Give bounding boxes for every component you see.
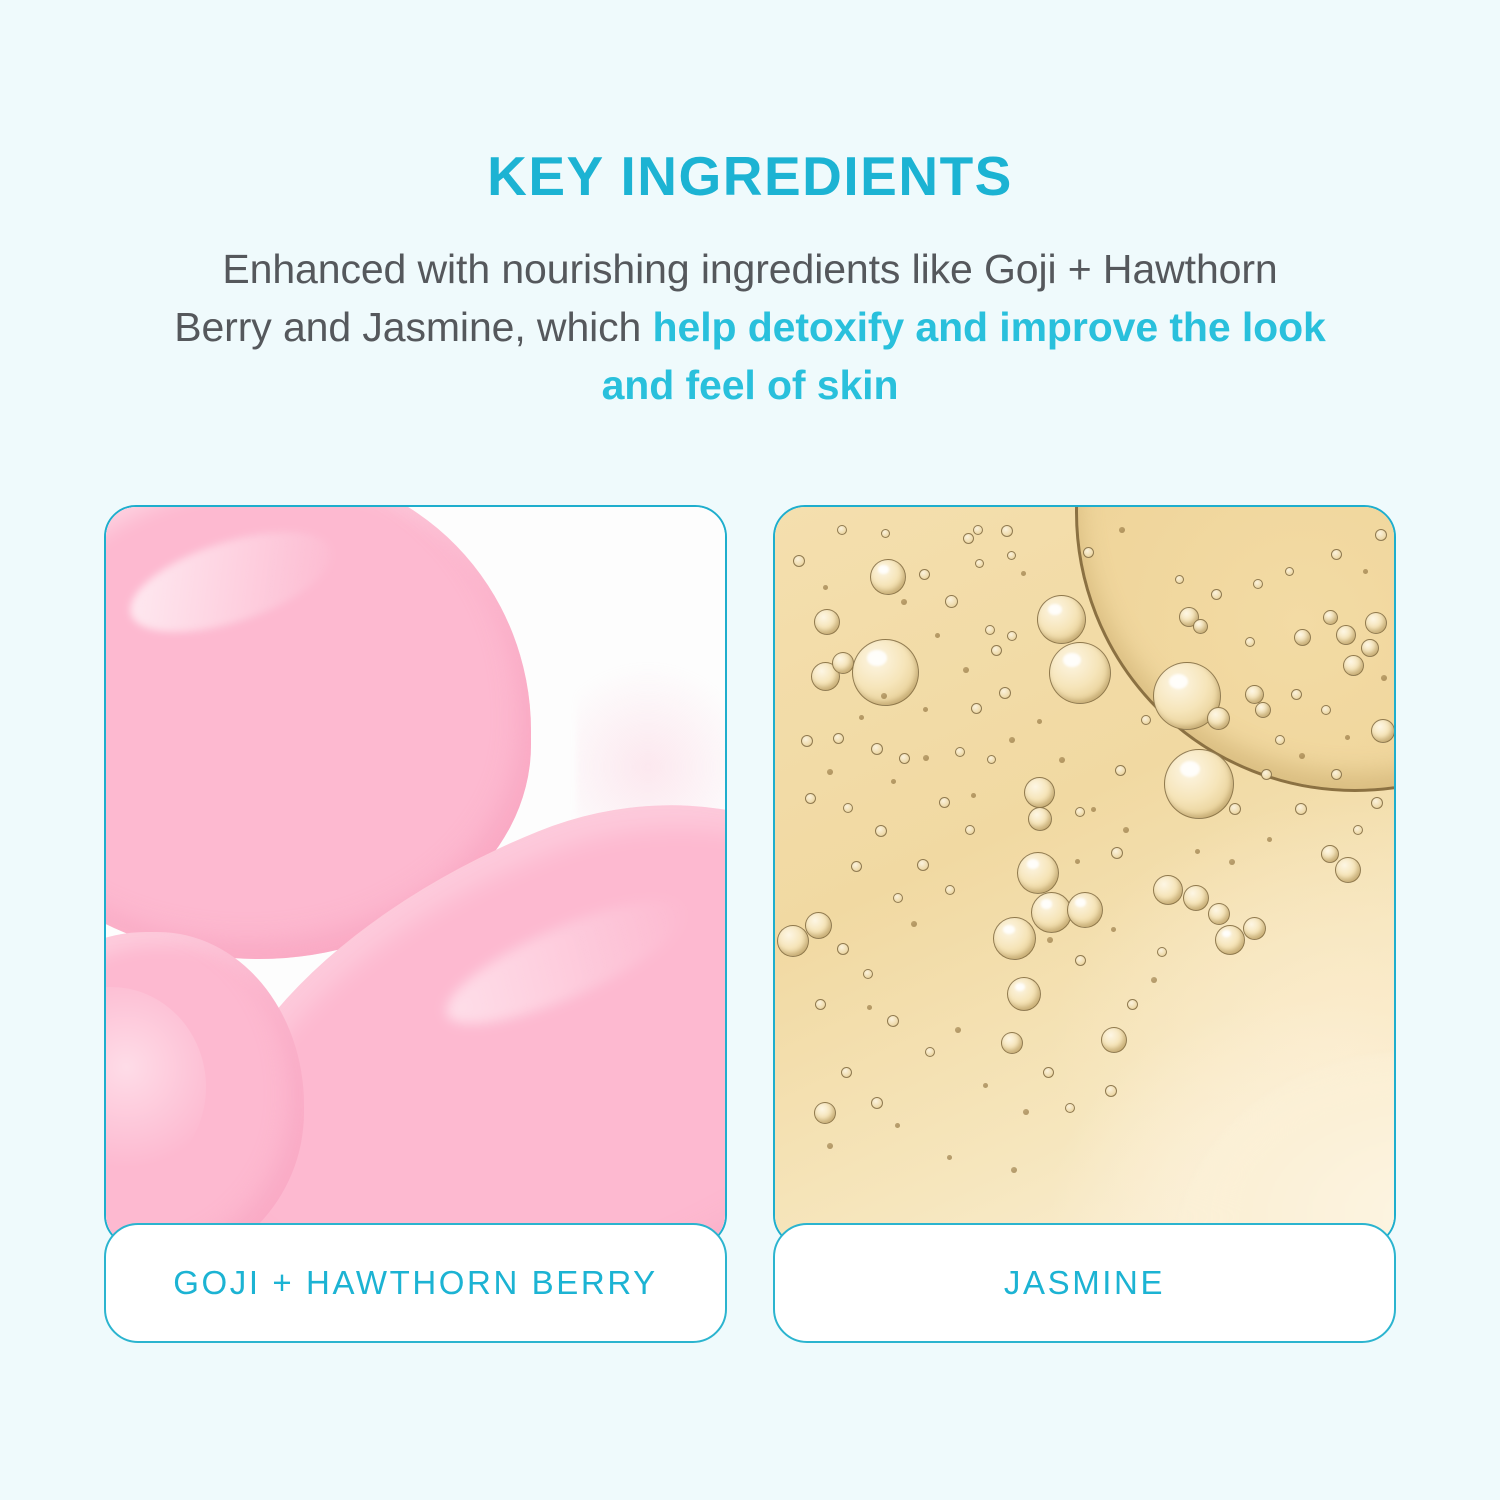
oil-bubble bbox=[1323, 610, 1338, 625]
oil-bubble-micro bbox=[891, 779, 896, 784]
oil-bubble bbox=[1007, 977, 1041, 1011]
oil-bubble-tiny bbox=[1043, 1067, 1054, 1078]
oil-bubble-tiny bbox=[945, 595, 958, 608]
ingredient-label-text: JASMINE bbox=[1004, 1264, 1165, 1302]
oil-bubble-tiny bbox=[837, 525, 847, 535]
oil-bubble bbox=[777, 925, 809, 957]
oil-bubble-micro bbox=[881, 693, 887, 699]
oil-bubble bbox=[1343, 655, 1364, 676]
oil-bubble-micro bbox=[1011, 1167, 1017, 1173]
oil-bubble-tiny bbox=[1211, 589, 1222, 600]
oil-bubble bbox=[814, 609, 840, 635]
oil-bubble-tiny bbox=[1111, 847, 1123, 859]
oil-bubble bbox=[1031, 892, 1072, 933]
oil-bubble-micro bbox=[1345, 735, 1350, 740]
ingredient-image-golden-oil bbox=[773, 505, 1396, 1247]
oil-bubble bbox=[1255, 702, 1271, 718]
oil-bubble-tiny bbox=[963, 533, 974, 544]
ingredient-image-pink-gel bbox=[104, 505, 727, 1247]
bubble-specular bbox=[867, 650, 887, 666]
oil-bubble-micro bbox=[963, 667, 969, 673]
bubble-specular bbox=[1063, 653, 1081, 667]
oil-bubble-tiny bbox=[945, 885, 955, 895]
oil-bubble-tiny bbox=[841, 1067, 852, 1078]
bubble-specular bbox=[1180, 761, 1200, 777]
header: KEY INGREDIENTS Enhanced with nourishing… bbox=[0, 148, 1500, 414]
oil-bubble-micro bbox=[971, 793, 976, 798]
oil-bubble-tiny bbox=[801, 735, 813, 747]
oil-bubble-tiny bbox=[1331, 769, 1342, 780]
oil-bubble-micro bbox=[1009, 737, 1015, 743]
oil-bubble bbox=[1321, 845, 1339, 863]
oil-bubble bbox=[1294, 629, 1311, 646]
oil-bubble bbox=[1361, 639, 1379, 657]
oil-bubble-tiny bbox=[965, 825, 975, 835]
bubble-specular bbox=[1015, 983, 1025, 991]
oil-bubble-tiny bbox=[1075, 807, 1085, 817]
oil-bubble-tiny bbox=[887, 1015, 899, 1027]
oil-bubble-tiny bbox=[975, 559, 984, 568]
oil-bubble-micro bbox=[1021, 571, 1026, 576]
oil-bubble-tiny bbox=[1331, 549, 1342, 560]
bubble-specular bbox=[1027, 859, 1039, 869]
oil-bubble-tiny bbox=[893, 893, 903, 903]
bubble-specular bbox=[878, 565, 888, 573]
oil-bubble-micro bbox=[1059, 757, 1065, 763]
oil-bubble-micro bbox=[935, 633, 940, 638]
subtitle: Enhanced with nourishing ingredients lik… bbox=[0, 240, 1500, 415]
oil-bubble-tiny bbox=[1083, 547, 1094, 558]
oil-bubble-micro bbox=[895, 1123, 900, 1128]
oil-bubble-tiny bbox=[999, 687, 1011, 699]
oil-bubble-tiny bbox=[939, 797, 950, 808]
oil-bubble-micro bbox=[827, 1143, 833, 1149]
oil-bubble-tiny bbox=[919, 569, 930, 580]
bubble-specular bbox=[1048, 604, 1062, 615]
bubble-specular bbox=[1041, 899, 1053, 908]
oil-bubble-micro bbox=[1047, 937, 1053, 943]
oil-bubble-micro bbox=[1151, 977, 1157, 983]
oil-bubble bbox=[993, 917, 1036, 960]
oil-bubble-tiny bbox=[1285, 567, 1294, 576]
oil-bubble-tiny bbox=[1375, 529, 1387, 541]
page-title: KEY INGREDIENTS bbox=[0, 148, 1500, 206]
oil-bubble-micro bbox=[1075, 859, 1080, 864]
oil-bubble-tiny bbox=[1229, 803, 1241, 815]
oil-bubble bbox=[1193, 619, 1208, 634]
oil-bubble bbox=[1049, 642, 1111, 704]
oil-bubble-micro bbox=[1091, 807, 1096, 812]
oil-bubble-tiny bbox=[863, 969, 873, 979]
oil-bubble-tiny bbox=[881, 529, 890, 538]
oil-bubble bbox=[1017, 852, 1059, 894]
oil-bubble-tiny bbox=[815, 999, 826, 1010]
bubble-specular bbox=[1003, 925, 1015, 935]
oil-bubble bbox=[1067, 892, 1103, 928]
oil-bubble bbox=[1365, 612, 1387, 634]
oil-bubble-tiny bbox=[971, 703, 982, 714]
oil-bubble bbox=[1243, 917, 1266, 940]
oil-bubble-tiny bbox=[793, 555, 805, 567]
oil-bubble-micro bbox=[1023, 1109, 1029, 1115]
oil-bubble-tiny bbox=[1127, 999, 1138, 1010]
oil-bubble-tiny bbox=[1157, 947, 1167, 957]
ingredient-label-box-jasmine: JASMINE bbox=[773, 1223, 1396, 1343]
oil-bubble-tiny bbox=[1371, 797, 1383, 809]
oil-bubble-micro bbox=[923, 755, 929, 761]
oil-bubble bbox=[1335, 857, 1361, 883]
oil-bubble-micro bbox=[827, 769, 833, 775]
ingredient-label-text: GOJI + HAWTHORN BERRY bbox=[173, 1264, 658, 1302]
oil-bubble bbox=[1001, 1032, 1023, 1054]
oil-bubble bbox=[1207, 707, 1230, 730]
oil-bubble-tiny bbox=[837, 943, 849, 955]
oil-bubble bbox=[1215, 925, 1245, 955]
oil-bubble-micro bbox=[1111, 927, 1116, 932]
oil-bubble-micro bbox=[1267, 837, 1272, 842]
oil-bubble-tiny bbox=[1253, 579, 1263, 589]
ingredient-card-jasmine[interactable]: JASMINE bbox=[773, 505, 1396, 1343]
oil-bubble-tiny bbox=[1295, 803, 1307, 815]
ingredient-card-list: GOJI + HAWTHORN BERRY bbox=[104, 505, 1396, 1343]
oil-bubble-micro bbox=[1195, 849, 1200, 854]
oil-bubble bbox=[814, 1102, 836, 1124]
cream-highlight-blob bbox=[1175, 1052, 1396, 1247]
oil-bubble bbox=[805, 912, 832, 939]
oil-bubble-tiny bbox=[991, 645, 1002, 656]
oil-bubble-micro bbox=[1123, 827, 1129, 833]
oil-bubble bbox=[1153, 875, 1183, 905]
ingredient-card-goji-hawthorn-berry[interactable]: GOJI + HAWTHORN BERRY bbox=[104, 505, 727, 1343]
subtitle-accent: help detoxify and improve the look and f… bbox=[602, 304, 1326, 408]
oil-bubble bbox=[870, 559, 906, 595]
oil-bubble-micro bbox=[901, 599, 907, 605]
oil-bubble bbox=[1164, 749, 1234, 819]
oil-bubble-micro bbox=[1363, 569, 1368, 574]
oil-bubble-tiny bbox=[1105, 1085, 1117, 1097]
oil-bubble-micro bbox=[923, 707, 928, 712]
oil-bubble-micro bbox=[1381, 675, 1387, 681]
oil-bubble bbox=[1208, 903, 1230, 925]
oil-bubble-tiny bbox=[985, 625, 995, 635]
oil-bubble bbox=[1371, 719, 1395, 743]
oil-bubble-tiny bbox=[1175, 575, 1184, 584]
oil-bubble-tiny bbox=[805, 793, 816, 804]
pink-gel-scene bbox=[106, 507, 725, 1245]
oil-bubble-micro bbox=[983, 1083, 988, 1088]
oil-bubble-micro bbox=[1037, 719, 1042, 724]
oil-bubble-tiny bbox=[1321, 705, 1331, 715]
oil-bubble-tiny bbox=[1007, 631, 1017, 641]
oil-bubble-tiny bbox=[1007, 551, 1016, 560]
oil-bubble-tiny bbox=[1075, 955, 1086, 966]
oil-bubble-micro bbox=[1119, 527, 1125, 533]
oil-bubble-tiny bbox=[1001, 525, 1013, 537]
ingredient-label-box-goji-hawthorn-berry: GOJI + HAWTHORN BERRY bbox=[104, 1223, 727, 1343]
oil-bubble-tiny bbox=[1065, 1103, 1075, 1113]
oil-bubble-tiny bbox=[1261, 769, 1272, 780]
oil-bubble-micro bbox=[1299, 753, 1305, 759]
bubble-specular bbox=[1169, 674, 1189, 690]
oil-bubble-tiny bbox=[875, 825, 887, 837]
oil-bubble bbox=[1037, 595, 1086, 644]
oil-bubble bbox=[832, 652, 854, 674]
oil-bubble-tiny bbox=[955, 747, 965, 757]
oil-bubble-tiny bbox=[1141, 715, 1151, 725]
oil-bubble-tiny bbox=[843, 803, 853, 813]
oil-bubble-tiny bbox=[871, 743, 883, 755]
oil-bubble-micro bbox=[955, 1027, 961, 1033]
oil-bubble-micro bbox=[867, 1005, 872, 1010]
oil-bubble-tiny bbox=[1245, 637, 1255, 647]
oil-bubble-micro bbox=[911, 921, 917, 927]
oil-bubble-tiny bbox=[1115, 765, 1126, 776]
oil-bubble-tiny bbox=[1275, 735, 1285, 745]
oil-bubble-tiny bbox=[899, 753, 910, 764]
oil-bubble bbox=[1101, 1027, 1127, 1053]
oil-bubble-tiny bbox=[925, 1047, 935, 1057]
oil-bubble-micro bbox=[1229, 859, 1235, 865]
golden-oil-scene bbox=[775, 507, 1394, 1245]
oil-bubble-tiny bbox=[833, 733, 844, 744]
oil-bubble-tiny bbox=[871, 1097, 883, 1109]
oil-bubble bbox=[1024, 777, 1055, 808]
oil-bubble-tiny bbox=[917, 859, 929, 871]
oil-bubble-micro bbox=[859, 715, 864, 720]
oil-bubble-tiny bbox=[987, 755, 996, 764]
oil-bubble-tiny bbox=[1353, 825, 1363, 835]
oil-bubble bbox=[1028, 807, 1052, 831]
oil-bubble-micro bbox=[823, 585, 828, 590]
oil-bubble-micro bbox=[947, 1155, 952, 1160]
large-oil-circle bbox=[1075, 505, 1396, 792]
bubble-specular bbox=[1222, 930, 1230, 937]
key-ingredients-panel: KEY INGREDIENTS Enhanced with nourishing… bbox=[0, 0, 1500, 1500]
oil-bubble-tiny bbox=[973, 525, 983, 535]
bubble-specular bbox=[1075, 898, 1085, 906]
oil-bubble bbox=[1183, 885, 1209, 911]
oil-bubble-tiny bbox=[851, 861, 862, 872]
oil-bubble bbox=[1336, 625, 1356, 645]
oil-bubble-tiny bbox=[1291, 689, 1302, 700]
